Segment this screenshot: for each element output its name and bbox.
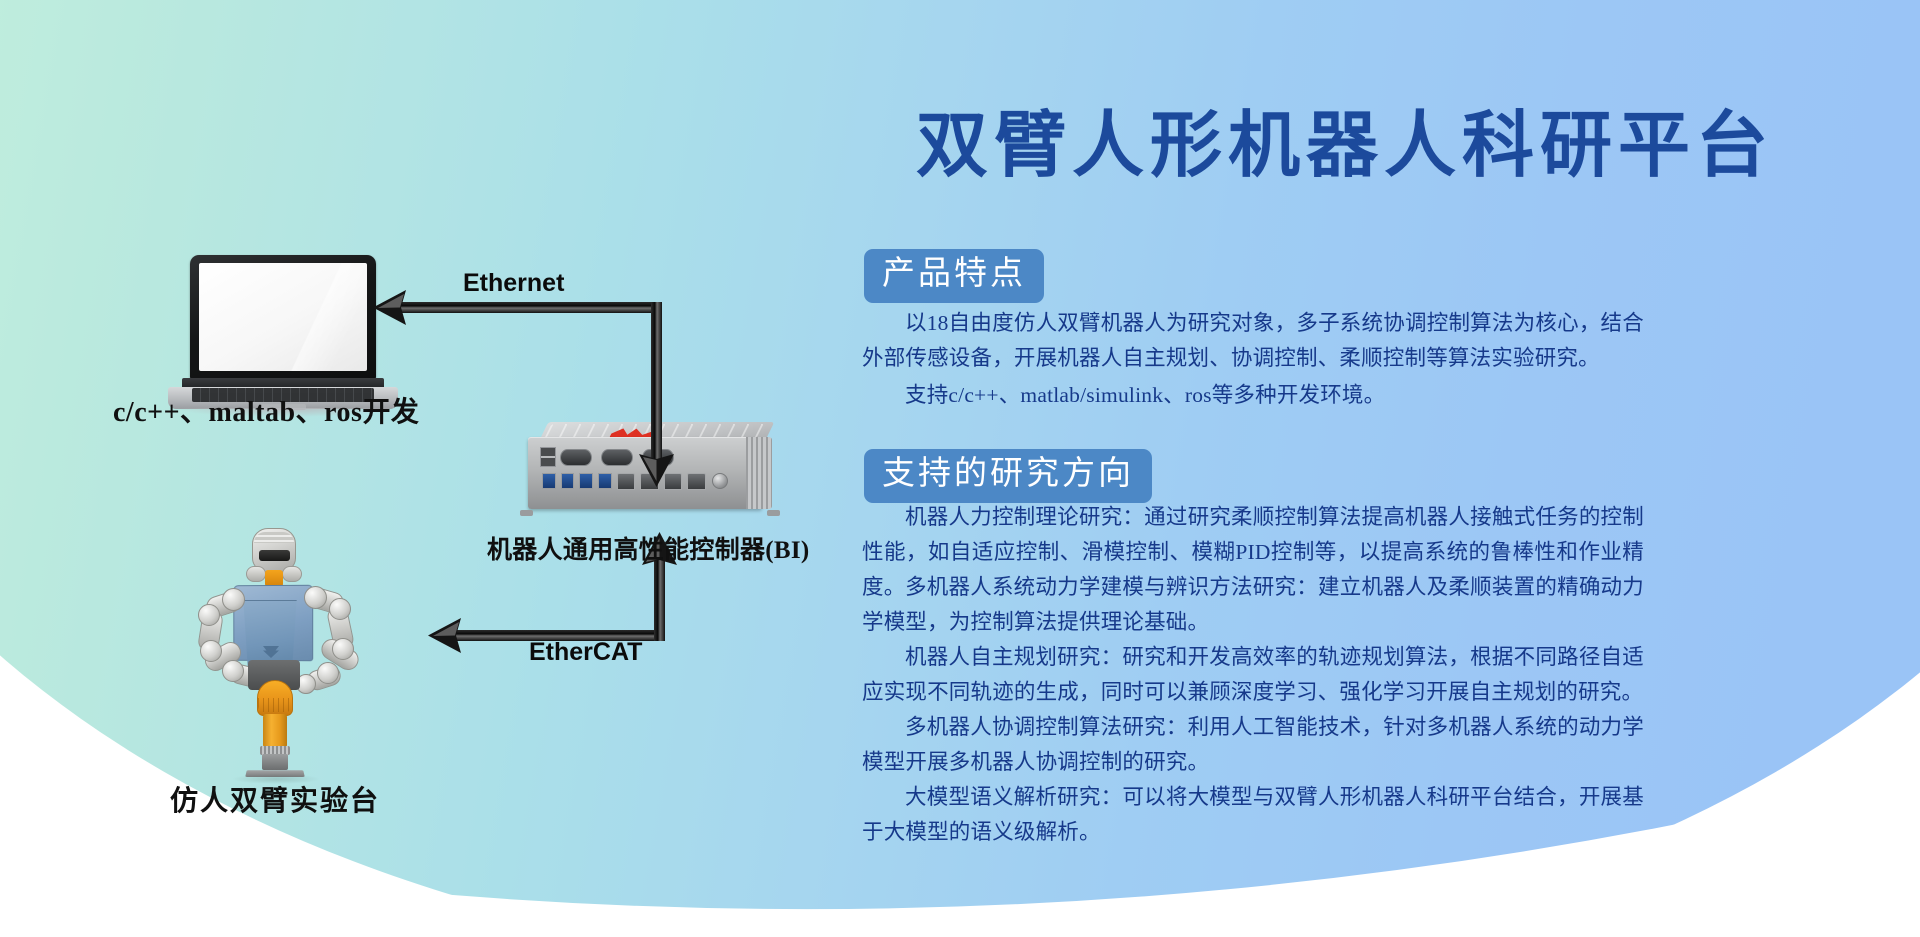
rj45-port (687, 473, 706, 490)
content-column: 双臂人形机器人科研平台 产品特点 以18自由度仿人双臂机器人为研究对象，多子系统… (840, 0, 1920, 937)
feature-paragraph-1: 以18自由度仿人双臂机器人为研究对象，多子系统协调控制算法为核心，结合外部传感设… (862, 306, 1644, 376)
db9-port (642, 449, 674, 466)
ethernet-link-label: Ethernet (463, 269, 564, 298)
research-paragraph-3: 机器人自主规划研究：研究和开发高效率的轨迹规划算法，根据不同路径自适应实现不同轨… (862, 640, 1644, 710)
research-paragraph-4: 多机器人协调控制算法研究：利用人工智能技术，针对多机器人系统的动力学模型开展多机… (862, 710, 1644, 780)
robot-right-shoulder-joint (304, 586, 327, 609)
robot-neck-joint-right (282, 566, 302, 582)
controller-mount-bracket (767, 510, 780, 516)
industrial-controller-icon (516, 415, 784, 525)
robot-pedestal (262, 754, 288, 770)
robot-caption: 仿人双臂实验台 (170, 779, 380, 819)
robot-right-elbow-joint (329, 598, 351, 620)
section-badge-research-directions: 支持的研究方向 (864, 449, 1152, 503)
poster-canvas: c/c++、maltab、ros开发 机器人通用高性能控制器(BI) 仿人双臂实… (0, 0, 1920, 937)
page-title: 双臂人形机器人科研平台 (840, 110, 1850, 182)
research-paragraph-2: 多机器人系统动力学建模与辨识方法研究：建立机器人及柔顺装置的精确动力学模型，为控… (862, 570, 1644, 640)
robot-head-ridges (254, 532, 294, 543)
controller-network-port-row (542, 472, 706, 490)
usb-port (542, 473, 556, 489)
rj45-port (640, 473, 659, 490)
controller-serial-port-row (560, 449, 700, 466)
controller-heatsink-fins (746, 437, 772, 509)
laptop-screen-shell (190, 255, 376, 380)
robot-right-wrist-joint (332, 638, 354, 660)
robot-left-elbow-joint (198, 604, 220, 626)
db9-port (560, 449, 592, 466)
usb-port (561, 473, 575, 489)
controller-caption: 机器人通用高性能控制器(BI) (487, 530, 810, 566)
controller-mount-bracket (520, 510, 533, 516)
controller-usb-stack (540, 447, 556, 467)
feature-paragraph-2: 支持c/c++、matlab/simulink、ros等多种开发环境。 (862, 378, 1644, 413)
robot-left-shoulder-joint (222, 588, 245, 611)
rj45-port (617, 473, 636, 490)
laptop-caption: c/c++、maltab、ros开发 (113, 390, 419, 430)
controller-power-connector (712, 473, 728, 489)
humanoid-robot-icon (180, 528, 370, 778)
robot-visor (259, 550, 290, 561)
section-badge-product-features: 产品特点 (864, 249, 1044, 303)
research-paragraph-5: 大模型语义解析研究：可以将大模型与双臂人形机器人科研平台结合，开展基于大模型的语… (862, 780, 1644, 850)
robot-right-hand-joint (317, 662, 339, 684)
rj45-port (664, 473, 683, 490)
system-architecture-diagram: c/c++、maltab、ros开发 机器人通用高性能控制器(BI) 仿人双臂实… (0, 0, 830, 937)
laptop-screen (199, 263, 367, 371)
db9-port (601, 449, 633, 466)
usb-port (598, 473, 612, 489)
robot-support-column (263, 714, 287, 748)
robot-neck-joint-left (246, 566, 266, 582)
ethercat-link-label: EtherCAT (529, 638, 642, 667)
robot-left-wrist-joint (200, 640, 222, 662)
robot-waist-ribs (258, 698, 292, 712)
laptop-screen-glare (290, 263, 367, 371)
robot-left-hand-joint (222, 660, 244, 682)
usb-port (579, 473, 593, 489)
